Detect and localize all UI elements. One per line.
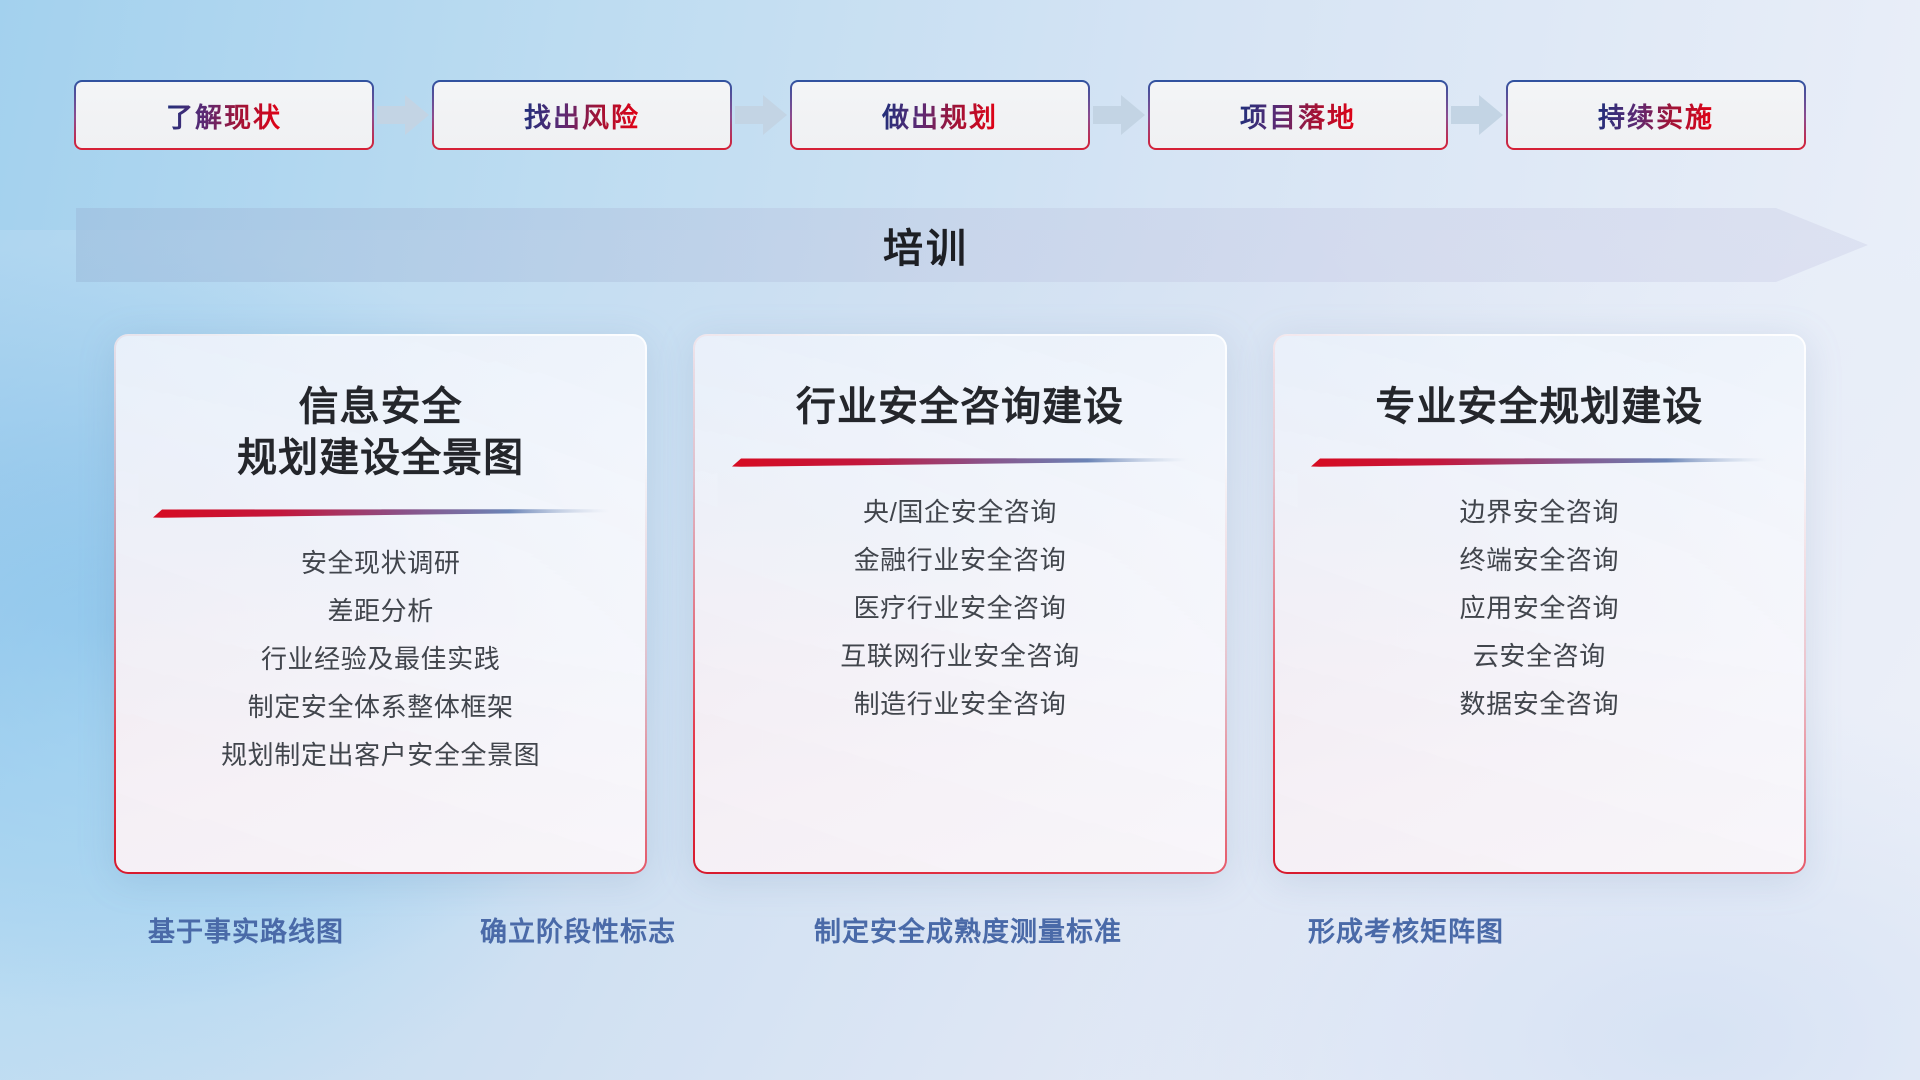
right-arrow-icon [374,92,432,138]
process-step-3-surface: 做出规划 [792,82,1088,148]
capability-card-3-list: 边界安全咨询 终端安全咨询 应用安全咨询 云安全咨询 数据安全咨询 [1301,494,1778,724]
process-step-3[interactable]: 做出规划 [790,80,1090,150]
footer-label-4: 形成考核矩阵图 [1308,910,1504,949]
process-step-4[interactable]: 项目落地 [1148,80,1448,150]
list-item: 医疗行业安全咨询 [854,590,1067,628]
list-item: 制定安全体系整体框架 [248,689,514,727]
list-item: 制造行业安全咨询 [854,686,1067,724]
list-item: 云安全咨询 [1473,638,1606,676]
footer-label-3: 制定安全成熟度测量标准 [814,910,1122,949]
capability-card-2-surface: 行业安全咨询建设 [695,336,1224,872]
process-step-4-surface: 项目落地 [1150,82,1446,148]
card-divider-accent [153,506,609,519]
process-step-1-label: 了解现状 [166,96,282,135]
capability-card-1[interactable]: 信息安全 规划建设全景图 [114,334,647,874]
process-step-2-label: 找出风险 [524,96,640,135]
list-item: 央/国企安全咨询 [863,494,1057,532]
footer-label-1: 基于事实路线图 [148,910,344,949]
list-item: 差距分析 [327,593,433,631]
right-arrow-icon [732,92,790,138]
process-step-3-label: 做出规划 [882,96,998,135]
training-banner: 培训 [76,208,1868,282]
capability-card-1-list: 安全现状调研 差距分析 行业经验及最佳实践 制定安全体系整体框架 规划制定出客户… [142,545,619,775]
capability-card-1-title: 信息安全 规划建设全景图 [237,382,524,484]
process-step-1-surface: 了解现状 [76,82,372,148]
footer-label-row: 基于事实路线图 确立阶段性标志 制定安全成熟度测量标准 形成考核矩阵图 [0,910,1920,970]
list-item: 应用安全咨询 [1460,590,1620,628]
process-step-4-label: 项目落地 [1240,96,1356,135]
footer-label-2: 确立阶段性标志 [480,910,676,949]
capability-card-row: 信息安全 规划建设全景图 [0,334,1920,874]
list-item: 行业经验及最佳实践 [261,641,500,679]
capability-card-3[interactable]: 专业安全规划建设 [1273,334,1806,874]
list-item: 终端安全咨询 [1460,542,1620,580]
process-step-5-surface: 持续实施 [1508,82,1804,148]
list-item: 规划制定出客户安全全景图 [221,737,540,775]
process-step-5-label: 持续实施 [1598,96,1714,135]
process-step-5[interactable]: 持续实施 [1506,80,1806,150]
card-divider-accent [1311,455,1767,468]
capability-card-2-list: 央/国企安全咨询 金融行业安全咨询 医疗行业安全咨询 互联网行业安全咨询 制造行… [721,494,1198,724]
process-step-2-surface: 找出风险 [434,82,730,148]
process-step-1[interactable]: 了解现状 [74,80,374,150]
list-item: 安全现状调研 [301,545,461,583]
process-step-row: 了解现状 找出风险 做出规划 [0,78,1920,152]
process-step-2[interactable]: 找出风险 [432,80,732,150]
list-item: 金融行业安全咨询 [854,542,1067,580]
capability-card-3-surface: 专业安全规划建设 [1275,336,1804,872]
capability-card-1-surface: 信息安全 规划建设全景图 [116,336,645,872]
capability-card-2[interactable]: 行业安全咨询建设 [693,334,1226,874]
right-arrow-icon [1448,92,1506,138]
list-item: 互联网行业安全咨询 [840,638,1079,676]
list-item: 数据安全咨询 [1460,686,1620,724]
capability-card-3-title: 专业安全规划建设 [1375,382,1703,433]
list-item: 边界安全咨询 [1460,494,1620,532]
right-arrow-icon [1090,92,1148,138]
capability-card-2-title: 行业安全咨询建设 [796,382,1124,433]
training-banner-label: 培训 [76,208,1868,282]
slide-canvas: 了解现状 找出风险 做出规划 [0,0,1920,1080]
card-divider-accent [732,455,1188,468]
